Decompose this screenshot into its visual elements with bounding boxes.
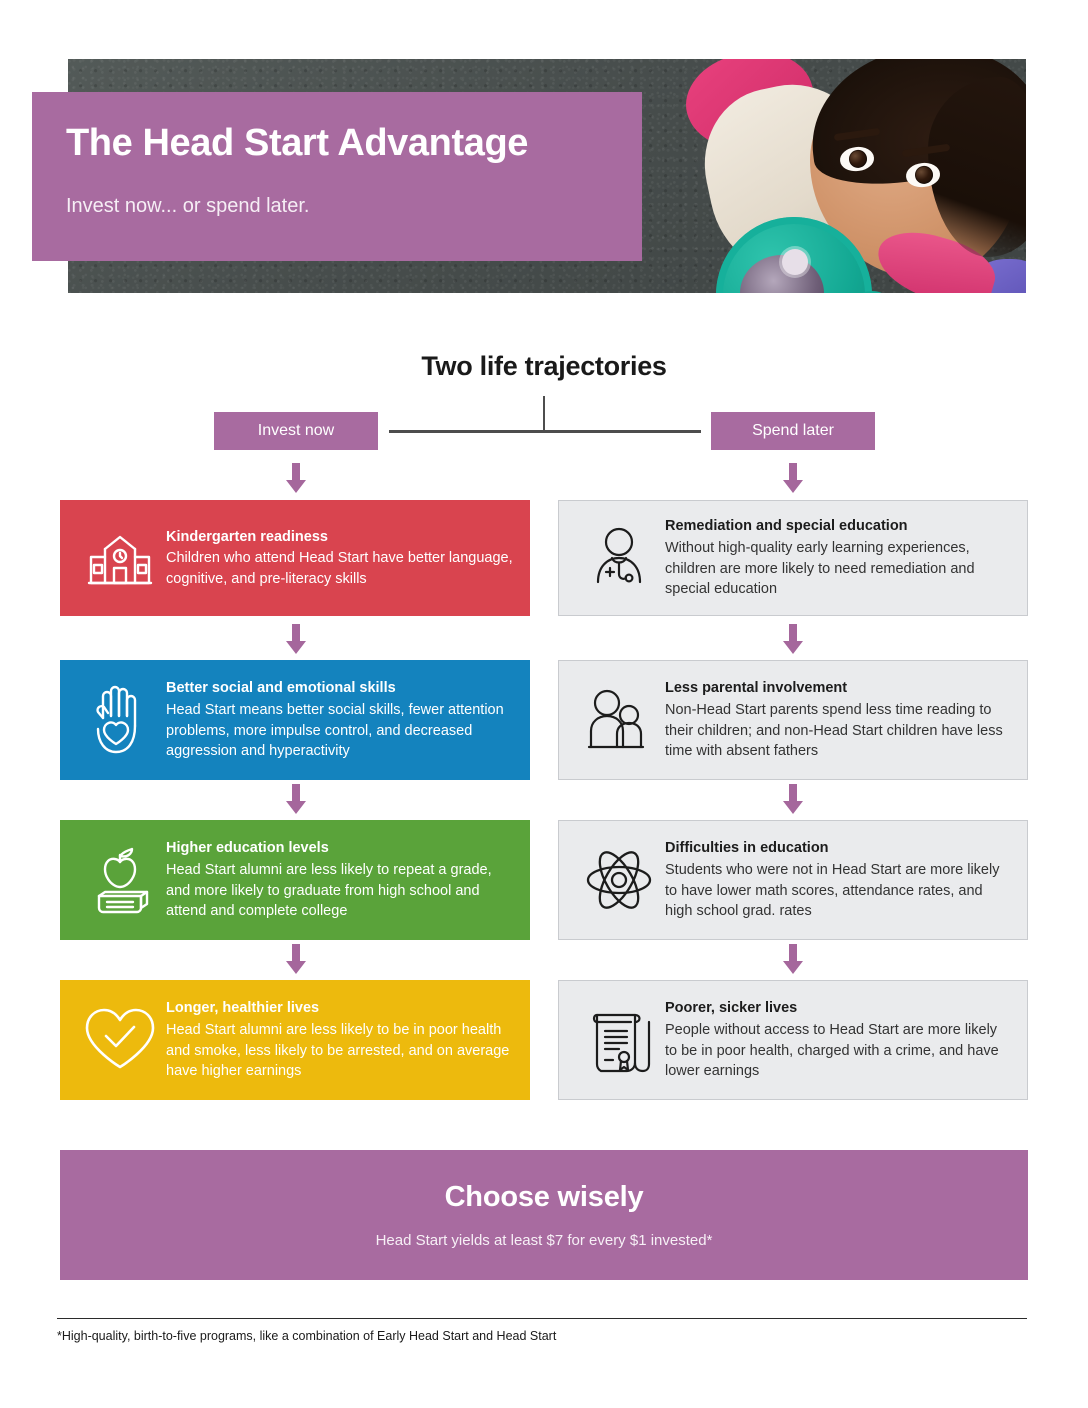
school-building-icon xyxy=(74,527,166,589)
card-body: Less parental involvement Non-Head Start… xyxy=(665,678,1011,761)
cta-subtitle: Head Start yields at least $7 for every … xyxy=(376,1232,713,1249)
arrow-down-icon xyxy=(283,463,309,493)
parent-and-child-icon xyxy=(573,687,665,753)
page-title: The Head Start Advantage xyxy=(66,122,528,165)
card-heading: Difficulties in education xyxy=(665,838,1011,859)
arrow-down-icon xyxy=(780,784,806,814)
cta-title: Choose wisely xyxy=(445,1181,644,1214)
certificate-scroll-icon xyxy=(573,1005,665,1075)
card-poorer-sicker-lives: Poorer, sicker lives People without acce… xyxy=(558,980,1028,1100)
card-body: Longer, healthier lives Head Start alumn… xyxy=(166,998,514,1081)
card-less-parental-involvement: Less parental involvement Non-Head Start… xyxy=(558,660,1028,780)
branch-label-invest-now[interactable]: Invest now xyxy=(214,412,378,450)
card-longer-healthier-lives: Longer, healthier lives Head Start alumn… xyxy=(60,980,530,1100)
arrow-down-icon xyxy=(780,944,806,974)
card-body: Poorer, sicker lives People without acce… xyxy=(665,998,1011,1081)
infographic-page: The Head Start Advantage Invest now... o… xyxy=(0,0,1088,1408)
photo-rattle-sticker-1 xyxy=(782,249,808,275)
card-higher-education-levels: Higher education levels Head Start alumn… xyxy=(60,820,530,940)
arrow-down-icon xyxy=(283,624,309,654)
card-body: Difficulties in education Students who w… xyxy=(665,838,1011,921)
card-body: Remediation and special education Withou… xyxy=(665,516,1011,599)
card-body: Kindergarten readiness Children who atte… xyxy=(166,527,514,590)
footnote-divider xyxy=(57,1318,1027,1319)
card-kindergarten-readiness: Kindergarten readiness Children who atte… xyxy=(60,500,530,616)
card-text: Head Start alumni are less likely to be … xyxy=(166,1020,514,1082)
card-text: Head Start alumni are less likely to rep… xyxy=(166,860,514,922)
photo-eye-right xyxy=(905,161,941,188)
card-body: Higher education levels Head Start alumn… xyxy=(166,838,514,921)
card-heading: Longer, healthier lives xyxy=(166,998,514,1019)
card-heading: Higher education levels xyxy=(166,838,514,859)
heart-with-checkmark-icon xyxy=(74,1005,166,1075)
apple-on-books-icon xyxy=(74,844,166,916)
card-heading: Better social and emotional skills xyxy=(166,678,514,699)
arrow-down-icon xyxy=(283,784,309,814)
card-heading: Remediation and special education xyxy=(665,516,1011,537)
card-remediation-special-education: Remediation and special education Withou… xyxy=(558,500,1028,616)
connector-horizontal xyxy=(389,430,701,433)
card-text: Non-Head Start parents spend less time r… xyxy=(665,700,1011,762)
branch-label-spend-later[interactable]: Spend later xyxy=(711,412,875,450)
card-heading: Poorer, sicker lives xyxy=(665,998,1011,1019)
card-better-social-emotional-skills: Better social and emotional skills Head … xyxy=(60,660,530,780)
atom-icon xyxy=(573,845,665,915)
footnote: *High-quality, birth-to-five programs, l… xyxy=(57,1329,556,1343)
arrow-down-icon xyxy=(283,944,309,974)
header-purple-band xyxy=(32,92,642,261)
card-text: Head Start means better social skills, f… xyxy=(166,700,514,762)
card-heading: Less parental involvement xyxy=(665,678,1011,699)
card-text: Children who attend Head Start have bett… xyxy=(166,548,514,589)
card-text: Students who were not in Head Start are … xyxy=(665,860,1011,922)
choose-wisely-banner: Choose wisely Head Start yields at least… xyxy=(60,1150,1028,1280)
connector-vertical xyxy=(543,396,545,432)
card-difficulties-in-education: Difficulties in education Students who w… xyxy=(558,820,1028,940)
card-text: People without access to Head Start are … xyxy=(665,1020,1011,1082)
doctor-with-stethoscope-icon xyxy=(573,525,665,591)
section-title: Two life trajectories xyxy=(0,351,1088,382)
card-body: Better social and emotional skills Head … xyxy=(166,678,514,761)
card-text: Without high-quality early learning expe… xyxy=(665,538,1011,600)
photo-eye-left xyxy=(839,145,875,172)
hand-with-heart-icon xyxy=(74,684,166,756)
arrow-down-icon xyxy=(780,463,806,493)
card-heading: Kindergarten readiness xyxy=(166,527,514,548)
arrow-down-icon xyxy=(780,624,806,654)
page-subtitle: Invest now... or spend later. xyxy=(66,195,309,218)
